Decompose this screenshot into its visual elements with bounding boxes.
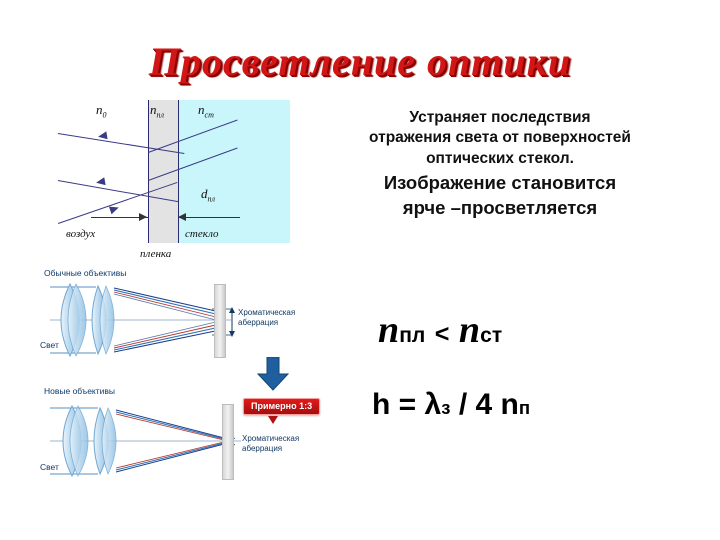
label-air: воздух [66,228,95,240]
film-glass-boundary [178,100,179,243]
formula-refractive-index: nпл < nст [378,308,502,352]
label-film: пленка [140,248,171,260]
aberration-label-standard-line1: Хроматическая [238,308,295,318]
formula1-n2: n [459,309,480,351]
formula-thickness: h = λз / 4 nп [372,388,530,422]
lens-figure-new: Новые объективы Свет [36,386,326,486]
ray-arrowhead-3 [109,204,120,214]
ray-arrowhead-1 [97,131,107,140]
description-line-1: Устраняет последствия [290,108,710,128]
description-line-5: ярче –просветляется [290,196,710,220]
optics-diagram: n0 nпл nст dпл воздух пленка стекло [58,100,303,260]
dimension-arrow-left [139,213,147,221]
nglass-subscript: ст [205,111,214,120]
label-glass: стекло [185,228,219,240]
description-line-2: отражения света от поверхностей [290,128,710,148]
description-line-3: оптических стекол. [290,149,710,169]
label-thickness: dпл [201,186,215,204]
formula2-n-sub: п [519,397,530,418]
dimension-line-right [178,217,240,218]
formula2-n: n [501,388,519,421]
formula2-slash: / [459,388,467,421]
formula1-sub2: ст [480,324,502,347]
description-block: Устраняет последствия отражения света от… [290,108,710,220]
formula2-lambda-sub: з [441,397,450,418]
label-n-film: nпл [150,102,164,120]
page-title: Просветление оптики [0,38,720,85]
dimension-arrow-right [178,213,186,221]
description-line-4: Изображение становится [290,171,710,195]
label-n-glass: nст [198,102,214,120]
sensor-bar-new [222,404,234,480]
sensor-bar-standard [214,284,226,358]
formula1-operator: < [435,320,450,348]
aberration-label-new-line2: аберрация [242,444,299,454]
n0-subscript: 0 [103,111,107,120]
aberration-label-standard: Хроматическая аберрация [238,308,295,328]
aberration-label-new: Хроматическая аберрация [242,434,299,454]
aberration-label-standard-line2: аберрация [238,318,295,328]
lens-figure-standard: Обычные объективы Свет [36,268,326,368]
aberration-label-new-line1: Хроматическая [242,434,299,444]
label-n0: n0 [96,102,107,120]
ray-arrowhead-2 [95,177,105,186]
formula1-sub1: пл [399,324,425,347]
d-subscript: пл [208,195,216,204]
formula2-h: h [372,388,390,421]
nfilm-subscript: пл [157,111,165,120]
air-film-boundary [148,100,149,243]
formula2-lambda: λ [425,388,442,421]
formula1-n1: n [378,309,399,351]
slide-root: Просветление оптики n0 nпл nст [0,0,720,540]
formula2-four: 4 [476,388,493,421]
formula2-equals: = [399,388,417,421]
